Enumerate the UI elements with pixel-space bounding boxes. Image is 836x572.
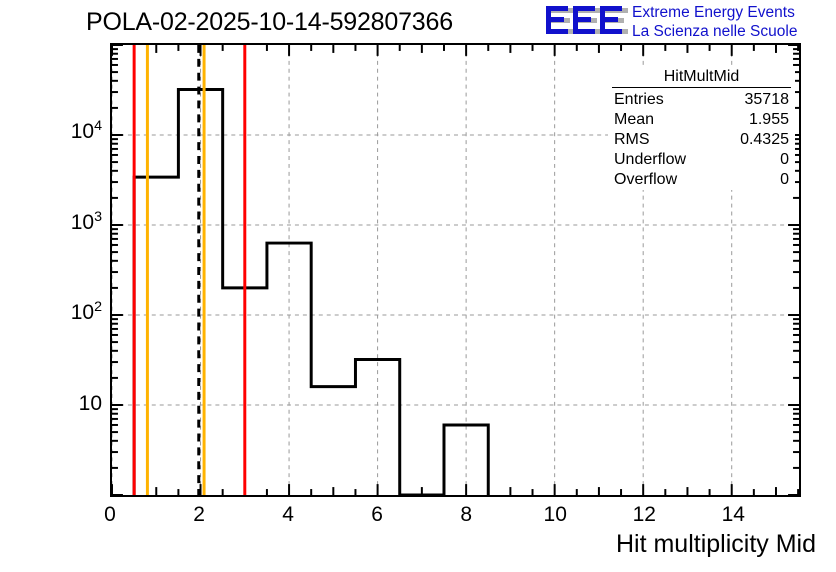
- x-tick-label: 2: [193, 503, 205, 527]
- stats-row: Overflow0: [608, 170, 795, 190]
- stats-row: Entries35718: [608, 90, 795, 110]
- stats-key: RMS: [614, 130, 650, 150]
- stats-row: Underflow0: [608, 150, 795, 170]
- stats-row: RMS0.4325: [608, 130, 795, 150]
- stats-key: Mean: [614, 110, 654, 130]
- root-canvas: POLA-02-2025-10-14-592807366: [0, 0, 836, 572]
- stats-key: Overflow: [614, 170, 677, 190]
- y-tick-label: 10: [2, 392, 102, 416]
- x-axis-title: Hit multiplicity Mid: [616, 530, 816, 559]
- x-tick-label: 6: [371, 503, 383, 527]
- eee-logo: Extreme Energy Events La Scienza nelle S…: [544, 3, 834, 43]
- eee-logo-text: Extreme Energy Events La Scienza nelle S…: [632, 3, 797, 41]
- histogram-outline: [134, 90, 488, 495]
- eee-letters-icon: [544, 4, 628, 38]
- stats-value: 35718: [745, 90, 790, 110]
- x-tick-label: 14: [722, 503, 745, 527]
- stats-value: 0: [780, 170, 789, 190]
- stats-key: Underflow: [614, 150, 686, 170]
- stats-key: Entries: [614, 90, 664, 110]
- x-tick-label: 0: [104, 503, 116, 527]
- stats-value: 0: [780, 150, 789, 170]
- eee-logo-line2: La Scienza nelle Scuole: [632, 22, 797, 41]
- stats-value: 0.4325: [740, 130, 789, 150]
- x-tick-label: 12: [633, 503, 656, 527]
- x-tick-label: 8: [460, 503, 472, 527]
- stats-title: HitMultMid: [612, 68, 791, 88]
- stats-row: Mean1.955: [608, 110, 795, 130]
- eee-logo-line1: Extreme Energy Events: [632, 3, 797, 22]
- stats-box: HitMultMid Entries35718Mean1.955RMS0.432…: [608, 68, 795, 190]
- y-tick-label: 103: [2, 211, 102, 235]
- y-tick-label: 102: [2, 301, 102, 325]
- x-tick-label: 4: [282, 503, 294, 527]
- y-tick-label: 104: [2, 120, 102, 144]
- stats-rows: Entries35718Mean1.955RMS0.4325Underflow0…: [608, 90, 795, 190]
- stats-value: 1.955: [749, 110, 789, 130]
- x-tick-label: 10: [544, 503, 567, 527]
- page-title: POLA-02-2025-10-14-592807366: [86, 8, 453, 37]
